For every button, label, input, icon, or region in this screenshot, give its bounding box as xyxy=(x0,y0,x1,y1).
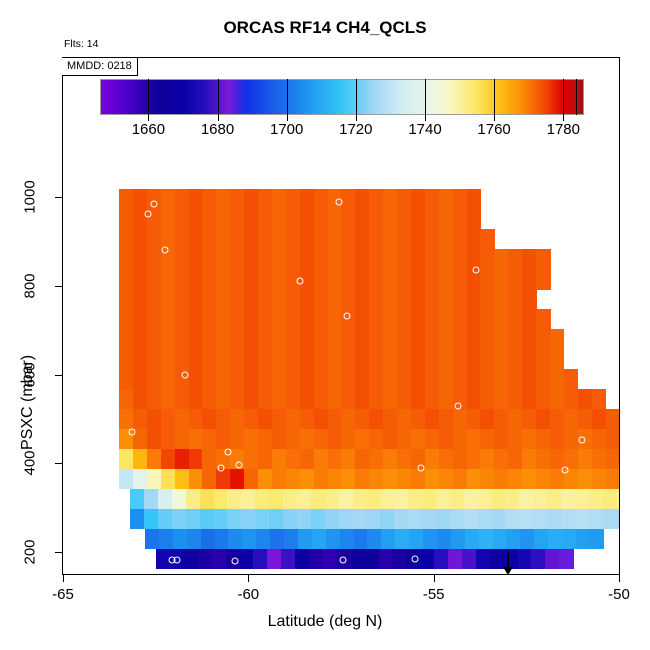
heatmap-cell xyxy=(397,449,412,470)
heatmap-cell xyxy=(161,449,176,470)
heatmap-cell xyxy=(297,509,312,530)
heatmap-cell xyxy=(172,509,187,530)
heatmap-cell xyxy=(508,269,523,290)
heatmap-cell xyxy=(522,249,537,270)
heatmap-cell xyxy=(550,429,565,450)
heatmap-cell xyxy=(244,449,259,470)
heatmap-cell xyxy=(397,409,412,430)
heatmap-cell xyxy=(494,349,509,370)
heatmap-cell xyxy=(297,489,312,510)
y-axis-tick xyxy=(55,375,62,376)
heatmap-cell xyxy=(244,229,259,250)
heatmap-cell xyxy=(202,249,217,270)
sample-point-marker[interactable] xyxy=(454,403,461,410)
heatmap-cell xyxy=(522,309,537,330)
heatmap-cell xyxy=(480,249,495,270)
colorbar-divider xyxy=(576,79,577,115)
heatmap-cell xyxy=(258,309,273,330)
heatmap-cell xyxy=(575,509,590,530)
heatmap-cell xyxy=(575,489,590,510)
sample-point-marker[interactable] xyxy=(150,200,157,207)
heatmap-cell xyxy=(147,329,162,350)
heatmap-cell xyxy=(508,289,523,310)
heatmap-cell xyxy=(383,449,398,470)
heatmap-cell xyxy=(425,329,440,350)
y-axis-tick-label: 200 xyxy=(22,539,39,564)
heatmap-cell xyxy=(147,449,162,470)
heatmap-cell xyxy=(453,449,468,470)
heatmap-cell xyxy=(258,209,273,230)
flights-annotation: Flts: 14 xyxy=(64,38,98,50)
heatmap-cell xyxy=(411,309,426,330)
heatmap-cell xyxy=(411,329,426,350)
heatmap-cell xyxy=(161,269,176,290)
heatmap-cell xyxy=(286,369,301,390)
heatmap-cell xyxy=(383,209,398,230)
sample-point-marker[interactable] xyxy=(232,557,239,564)
heatmap-cell xyxy=(425,469,440,490)
heatmap-cell xyxy=(314,469,329,490)
heatmap-cell xyxy=(439,369,454,390)
heatmap-cell xyxy=(383,269,398,290)
heatmap-cell xyxy=(244,349,259,370)
heatmap-cell xyxy=(536,349,551,370)
heatmap-cell xyxy=(355,429,370,450)
heatmap-cell xyxy=(314,409,329,430)
heatmap-cell xyxy=(189,389,204,410)
heatmap-cell xyxy=(448,549,463,570)
heatmap-cell xyxy=(258,449,273,470)
heatmap-cell xyxy=(286,249,301,270)
heatmap-cell xyxy=(314,269,329,290)
heatmap-cell xyxy=(202,289,217,310)
heatmap-cell xyxy=(253,549,268,570)
heatmap-cell xyxy=(606,429,619,450)
y-axis-tick-label: 400 xyxy=(22,451,39,476)
heatmap-cell xyxy=(397,249,412,270)
heatmap-cell xyxy=(506,529,521,550)
heatmap-cell xyxy=(354,529,369,550)
heatmap-cell xyxy=(175,229,190,250)
heatmap-cell xyxy=(309,549,324,570)
heatmap-cell xyxy=(175,269,190,290)
heatmap-cell xyxy=(339,489,354,510)
heatmap-cell xyxy=(548,529,563,550)
heatmap-cell xyxy=(227,509,242,530)
heatmap-cell xyxy=(147,369,162,390)
sample-point-marker[interactable] xyxy=(412,555,419,562)
heatmap-cell xyxy=(536,469,551,490)
heatmap-cell xyxy=(119,209,134,230)
heatmap-cell xyxy=(189,349,204,370)
heatmap-cell xyxy=(230,349,245,370)
heatmap-cell xyxy=(578,389,593,410)
sample-point-marker[interactable] xyxy=(182,371,189,378)
heatmap-cell xyxy=(453,409,468,430)
heatmap-cell xyxy=(133,289,148,310)
heatmap-cell xyxy=(383,409,398,430)
heatmap-cell xyxy=(216,249,231,270)
heatmap-cell xyxy=(286,229,301,250)
heatmap-cell xyxy=(508,389,523,410)
heatmap-cell xyxy=(216,309,231,330)
heatmap-cell xyxy=(369,469,384,490)
heatmap-cell xyxy=(230,249,245,270)
heatmap-cell xyxy=(411,349,426,370)
heatmap-cell xyxy=(550,369,565,390)
heatmap-cell xyxy=(258,409,273,430)
heatmap-cell xyxy=(230,429,245,450)
heatmap-cell xyxy=(145,529,160,550)
heatmap-cell xyxy=(355,449,370,470)
heatmap-cell xyxy=(119,269,134,290)
heatmap-cell xyxy=(314,389,329,410)
colorbar-tick-label: 1720 xyxy=(339,121,372,138)
heatmap-cell xyxy=(173,529,188,550)
heatmap-cell xyxy=(314,189,329,210)
heatmap-cell xyxy=(439,249,454,270)
heatmap-cell xyxy=(269,509,284,530)
heatmap-cell xyxy=(312,529,327,550)
heatmap-cell xyxy=(119,189,134,210)
heatmap-cell xyxy=(189,409,204,430)
heatmap-cell xyxy=(467,469,482,490)
heatmap-cell xyxy=(283,509,298,530)
heatmap-cell xyxy=(286,469,301,490)
heatmap-cell xyxy=(439,409,454,430)
heatmap-cell xyxy=(133,469,148,490)
sample-point-marker[interactable] xyxy=(145,211,152,218)
heatmap-cell xyxy=(603,509,618,530)
heatmap-cell xyxy=(492,489,507,510)
heatmap-cell xyxy=(439,389,454,410)
heatmap-cell xyxy=(592,469,607,490)
heatmap-cell xyxy=(187,529,202,550)
heatmap-cell xyxy=(467,369,482,390)
heatmap-cell xyxy=(258,349,273,370)
heatmap-cell xyxy=(353,509,368,530)
heatmap-cell xyxy=(439,449,454,470)
sample-point-marker[interactable] xyxy=(562,466,569,473)
heatmap-cell xyxy=(216,349,231,370)
heatmap-cell xyxy=(425,389,440,410)
heatmap-cell xyxy=(244,369,259,390)
heatmap-cell xyxy=(550,409,565,430)
heatmap-cell xyxy=(369,389,384,410)
heatmap-cell xyxy=(465,529,480,550)
heatmap-cell xyxy=(453,189,468,210)
heatmap-cell xyxy=(439,209,454,230)
heatmap-cell xyxy=(397,389,412,410)
heatmap-cell xyxy=(536,249,551,270)
heatmap-cell xyxy=(314,449,329,470)
heatmap-cell xyxy=(189,429,204,450)
heatmap-cell xyxy=(189,449,204,470)
heatmap-cell xyxy=(453,369,468,390)
heatmap-cell xyxy=(494,409,509,430)
heatmap-cell xyxy=(536,389,551,410)
heatmap-cell xyxy=(189,209,204,230)
sample-point-marker[interactable] xyxy=(128,429,135,436)
plot-page: ORCAS RF14 CH4_QCLS Flts: 14 MMDD: 0218 … xyxy=(0,0,650,650)
heatmap-cell xyxy=(214,489,229,510)
heatmap-cell xyxy=(286,349,301,370)
heatmap-cell xyxy=(202,449,217,470)
heatmap-cell xyxy=(518,549,533,570)
sample-point-marker[interactable] xyxy=(339,556,346,563)
heatmap-cell xyxy=(408,509,423,530)
y-axis-title: PSXC (mbar) xyxy=(8,250,30,450)
heatmap-cell xyxy=(216,389,231,410)
heatmap-cell xyxy=(434,549,449,570)
heatmap-cell xyxy=(383,429,398,450)
heatmap-cell xyxy=(216,289,231,310)
heatmap-cell xyxy=(255,489,270,510)
heatmap-cell xyxy=(467,289,482,310)
heatmap-cell xyxy=(198,549,213,570)
heatmap-cell xyxy=(158,509,173,530)
heatmap-cell xyxy=(339,509,354,530)
heatmap-cell xyxy=(411,369,426,390)
heatmap-cell xyxy=(244,429,259,450)
sample-point-marker[interactable] xyxy=(343,312,350,319)
heatmap-cell xyxy=(355,269,370,290)
heatmap-cell xyxy=(314,369,329,390)
heatmap-cell xyxy=(172,489,187,510)
heatmap-cell xyxy=(340,529,355,550)
heatmap-cell xyxy=(175,469,190,490)
heatmap-cell xyxy=(328,249,343,270)
heatmap-cell xyxy=(369,289,384,310)
heatmap-cell xyxy=(314,429,329,450)
heatmap-cell xyxy=(366,489,381,510)
heatmap-cell xyxy=(341,329,356,350)
page-title: ORCAS RF14 CH4_QCLS xyxy=(0,18,650,38)
heatmap-cell xyxy=(439,469,454,490)
heatmap-cell xyxy=(536,369,551,390)
heatmap-cell xyxy=(464,509,479,530)
heatmap-cell xyxy=(397,209,412,230)
sample-point-marker[interactable] xyxy=(224,449,231,456)
heatmap-cell xyxy=(411,389,426,410)
heatmap-cell xyxy=(216,209,231,230)
heatmap-cell xyxy=(420,549,435,570)
heatmap-cell xyxy=(550,389,565,410)
heatmap-cell xyxy=(272,389,287,410)
heatmap-cell xyxy=(453,349,468,370)
colorbar-divider xyxy=(148,79,149,115)
heatmap-cell xyxy=(494,449,509,470)
heatmap-cell xyxy=(284,529,299,550)
heatmap-cell xyxy=(230,369,245,390)
heatmap-cell xyxy=(328,409,343,430)
heatmap-cell xyxy=(467,309,482,330)
heatmap-cell xyxy=(133,429,148,450)
colorbar[interactable]: 1660168017001720174017601780 xyxy=(100,79,584,115)
sample-point-marker[interactable] xyxy=(161,247,168,254)
heatmap-cell xyxy=(161,309,176,330)
heatmap-cell xyxy=(161,389,176,410)
x-axis-title: Latitude (deg N) xyxy=(0,613,650,631)
heatmap-cell xyxy=(547,509,562,530)
heatmap-cell xyxy=(369,189,384,210)
heatmap-cell xyxy=(508,369,523,390)
heatmap-cell xyxy=(272,249,287,270)
sample-point-marker[interactable] xyxy=(174,556,181,563)
sample-point-marker[interactable] xyxy=(336,199,343,206)
heatmap-cell xyxy=(144,509,159,530)
heatmap-cell xyxy=(383,329,398,350)
sample-point-marker[interactable] xyxy=(495,203,502,210)
heatmap-cell xyxy=(436,509,451,530)
heatmap-cell xyxy=(422,489,437,510)
heatmap-canvas[interactable] xyxy=(63,175,619,574)
heatmap-cell xyxy=(119,369,134,390)
heatmap-cell xyxy=(241,489,256,510)
heatmap-cell xyxy=(281,549,296,570)
heatmap-cell xyxy=(592,429,607,450)
heatmap-cell xyxy=(508,409,523,430)
x-axis-tick-label: -65 xyxy=(52,586,74,603)
heatmap-cell xyxy=(230,389,245,410)
heatmap-cell xyxy=(314,289,329,310)
heatmap-cell xyxy=(589,489,604,510)
heatmap-cell xyxy=(244,309,259,330)
heatmap-cell xyxy=(564,369,579,390)
heatmap-cell xyxy=(383,249,398,270)
heatmap-cell xyxy=(202,389,217,410)
heatmap-cell xyxy=(202,309,217,330)
heatmap-cell xyxy=(480,469,495,490)
heatmap-cell xyxy=(133,409,148,430)
heatmap-cell xyxy=(467,349,482,370)
heatmap-cell xyxy=(341,229,356,250)
heatmap-cell xyxy=(161,289,176,310)
heatmap-cell xyxy=(244,289,259,310)
heatmap-cell xyxy=(536,429,551,450)
heatmap-cell xyxy=(494,369,509,390)
heatmap-cell xyxy=(578,449,593,470)
heatmap-cell xyxy=(258,269,273,290)
heatmap-cell xyxy=(258,189,273,210)
heatmap-cell xyxy=(147,289,162,310)
heatmap-cell xyxy=(508,309,523,330)
heatmap-cell xyxy=(508,349,523,370)
heatmap-cell xyxy=(480,389,495,410)
heatmap-cell xyxy=(367,529,382,550)
heatmap-cell xyxy=(369,329,384,350)
heatmap-cell xyxy=(242,529,257,550)
heatmap-cell xyxy=(328,469,343,490)
heatmap-cell xyxy=(383,349,398,370)
heatmap-cell xyxy=(202,409,217,430)
sample-point-marker[interactable] xyxy=(217,465,224,472)
heatmap-cell xyxy=(311,489,326,510)
heatmap-cell xyxy=(230,269,245,290)
heatmap-cell xyxy=(480,329,495,350)
heatmap-cell xyxy=(394,509,409,530)
heatmap-cell xyxy=(493,529,508,550)
heatmap-cell xyxy=(341,389,356,410)
heatmap-cell xyxy=(606,409,619,430)
heatmap-cell xyxy=(439,229,454,250)
heatmap-cell xyxy=(328,289,343,310)
heatmap-cell xyxy=(147,269,162,290)
heatmap-cell xyxy=(522,389,537,410)
heatmap-cell xyxy=(258,469,273,490)
heatmap-cell xyxy=(272,229,287,250)
heatmap-cell xyxy=(590,529,605,550)
heatmap-cell xyxy=(425,289,440,310)
heatmap-cell xyxy=(561,489,576,510)
heatmap-cell xyxy=(397,309,412,330)
heatmap-cell xyxy=(425,369,440,390)
heatmap-cell xyxy=(369,229,384,250)
heatmap-cell xyxy=(519,509,534,530)
heatmap-cell xyxy=(272,369,287,390)
colorbar-tick-label: 1660 xyxy=(132,121,165,138)
heatmap-cell xyxy=(341,349,356,370)
heatmap-cell xyxy=(508,329,523,350)
sample-point-marker[interactable] xyxy=(297,278,304,285)
heatmap-cell xyxy=(479,529,494,550)
sample-point-marker[interactable] xyxy=(603,291,610,298)
heatmap-cell xyxy=(325,489,340,510)
heatmap-cell xyxy=(328,429,343,450)
sample-point-marker[interactable] xyxy=(236,462,243,469)
heatmap-cell xyxy=(355,349,370,370)
heatmap-cell xyxy=(227,489,242,510)
heatmap-cell xyxy=(272,349,287,370)
heatmap-cell xyxy=(258,369,273,390)
heatmap-cell xyxy=(383,289,398,310)
heatmap-cell xyxy=(161,349,176,370)
heatmap-cell xyxy=(328,329,343,350)
heatmap-cell xyxy=(175,409,190,430)
heatmap-cell xyxy=(383,309,398,330)
heatmap-cell xyxy=(425,249,440,270)
heatmap-cell xyxy=(355,309,370,330)
heatmap-cell xyxy=(562,529,577,550)
heatmap-cell xyxy=(453,429,468,450)
heatmap-cell xyxy=(480,289,495,310)
heatmap-cell xyxy=(369,449,384,470)
sample-point-marker[interactable] xyxy=(473,267,480,274)
heatmap-cell xyxy=(314,309,329,330)
sample-point-marker[interactable] xyxy=(556,315,563,322)
sample-point-marker[interactable] xyxy=(417,464,424,471)
heatmap-cell xyxy=(286,309,301,330)
heatmap-cell xyxy=(133,309,148,330)
heatmap-cell xyxy=(564,389,579,410)
heatmap-cell xyxy=(394,489,409,510)
heatmap-cell xyxy=(522,349,537,370)
heatmap-cell xyxy=(175,309,190,330)
heatmap-cell xyxy=(323,549,338,570)
heatmap-cell xyxy=(383,229,398,250)
heatmap-cell xyxy=(411,209,426,230)
heatmap-cell xyxy=(411,289,426,310)
colorbar-divider xyxy=(563,79,564,115)
heatmap-cell xyxy=(564,429,579,450)
heatmap-cell xyxy=(200,489,215,510)
heatmap-cell xyxy=(119,469,134,490)
x-axis-tick-label: -55 xyxy=(423,586,445,603)
heatmap-cell xyxy=(119,449,134,470)
sample-point-marker[interactable] xyxy=(578,437,585,444)
heatmap-cell xyxy=(453,289,468,310)
heatmap-cell xyxy=(411,189,426,210)
